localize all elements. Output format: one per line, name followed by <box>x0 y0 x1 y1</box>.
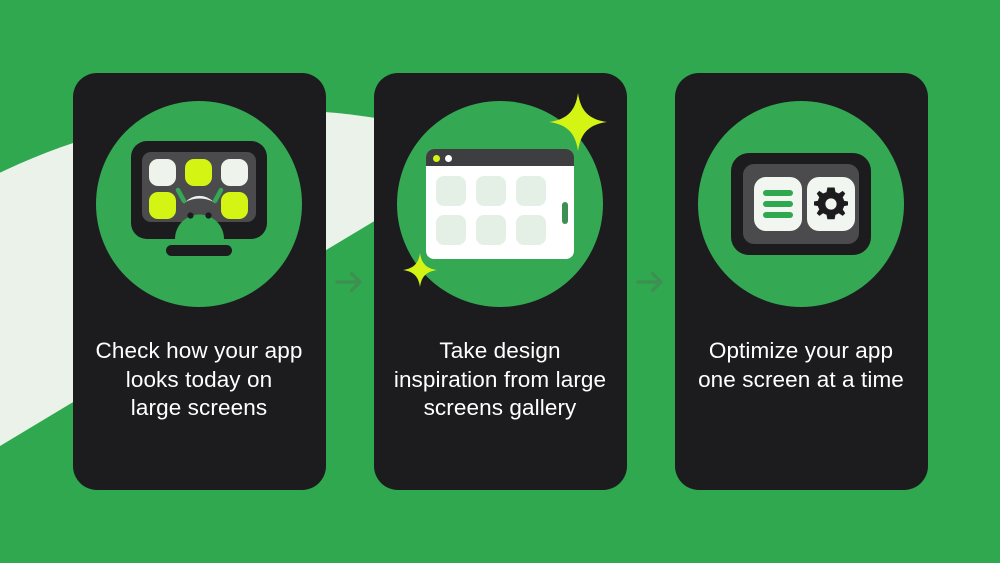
arrow-right-icon-2 <box>636 269 666 295</box>
device-list-and-settings-icon <box>731 153 871 255</box>
connector-2 <box>627 73 675 490</box>
sparkle-large-icon <box>549 93 607 151</box>
step-2-icon-circle <box>397 101 603 307</box>
gallery-tile <box>516 176 546 206</box>
step-card-1[interactable]: Check how your app looks today on large … <box>73 73 326 490</box>
infographic-stage: Check how your app looks today on large … <box>0 0 1000 563</box>
list-panel <box>754 177 802 231</box>
step-1-caption: Check how your app looks today on large … <box>86 337 313 423</box>
app-tile <box>221 159 248 186</box>
device-screen <box>743 164 859 244</box>
monitor-stand <box>166 245 232 256</box>
connector-1 <box>326 73 374 490</box>
gallery-tile <box>436 176 466 206</box>
gallery-tile <box>436 215 466 245</box>
step-2-caption: Take design inspiration from large scree… <box>384 337 616 423</box>
window-dot-lime <box>433 155 440 162</box>
gear-icon <box>814 187 848 221</box>
scrollbar-thumb[interactable] <box>562 202 568 224</box>
monitor-with-android-robot-icon <box>124 141 274 267</box>
sparkle-small-icon <box>403 253 437 287</box>
step-1-icon-wrap <box>73 73 326 335</box>
gear-panel <box>807 177 855 231</box>
list-line <box>763 190 793 196</box>
gallery-tile <box>476 176 506 206</box>
gallery-tile <box>476 215 506 245</box>
android-robot-head-icon <box>171 185 228 239</box>
list-line <box>763 212 793 218</box>
arrow-right-icon-1 <box>335 269 365 295</box>
step-card-3[interactable]: Optimize your app one screen at a time <box>675 73 928 490</box>
step-2-icon-wrap <box>374 73 627 335</box>
app-tile <box>149 159 176 186</box>
step-card-2[interactable]: Take design inspiration from large scree… <box>374 73 627 490</box>
window-dot-white <box>445 155 452 162</box>
gallery-tile <box>516 215 546 245</box>
app-tile <box>185 159 212 186</box>
list-line <box>763 201 793 207</box>
step-1-icon-circle <box>96 101 302 307</box>
step-3-icon-wrap <box>675 73 928 335</box>
browser-window-gallery-icon <box>426 149 574 259</box>
browser-window-body <box>426 149 574 259</box>
browser-title-bar <box>426 149 574 166</box>
step-3-caption: Optimize your app one screen at a time <box>688 337 914 394</box>
step-cards-row: Check how your app looks today on large … <box>0 0 1000 563</box>
step-3-icon-circle <box>698 101 904 307</box>
